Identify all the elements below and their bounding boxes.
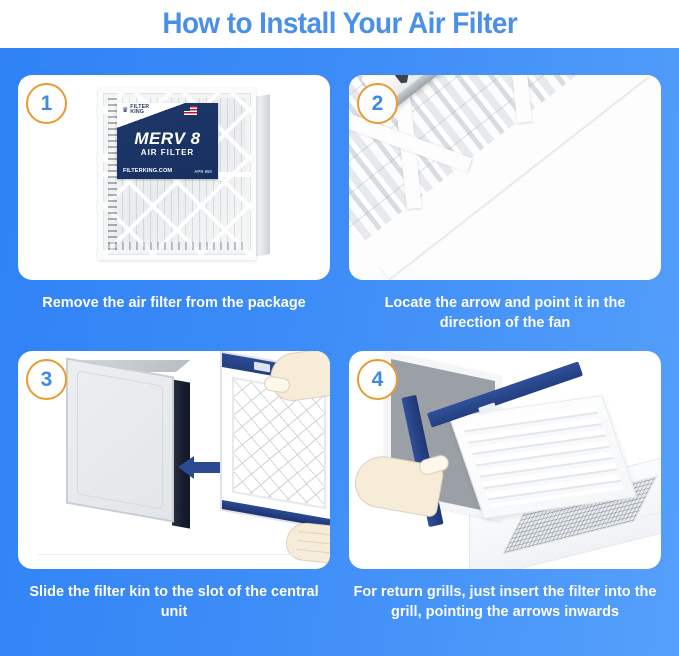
step-4-card: 4 — [349, 351, 661, 569]
step-2-caption: Locate the arrow and point it in the dir… — [349, 294, 661, 333]
central-unit-face — [66, 357, 174, 522]
step-4-badge: 4 — [357, 359, 398, 400]
merv-rating: MERV 8 — [117, 129, 218, 149]
usa-text: MADE IN USA — [199, 105, 214, 116]
brand-text: FILTER KING — [130, 105, 149, 116]
usa-flag-icon — [184, 106, 197, 115]
filter-arrow-tab-3 — [254, 362, 270, 373]
ground-line-3 — [38, 554, 328, 555]
step-3-badge: 3 — [26, 359, 67, 400]
step-1: ♛ FILTER KING MADE IN — [18, 75, 330, 314]
grill-door — [449, 395, 637, 519]
grill-louvers — [462, 406, 624, 508]
hand-lower — [284, 521, 330, 565]
step-2: AIR FLOW Air Filter AIRFLOW 2 Locate the… — [349, 75, 661, 333]
merv8-product-label: ♛ FILTER KING MADE IN — [117, 103, 218, 179]
step-2-badge: 2 — [357, 83, 398, 124]
step-1-caption: Remove the air filter from the package — [18, 294, 330, 314]
step-4: 4 For return grills, just insert the fil… — [349, 351, 661, 622]
label-subtitle: AIR FILTER — [117, 148, 218, 157]
page-title: How to Install Your Air Filter — [162, 9, 517, 39]
filter-pleat-edge-left — [108, 98, 117, 250]
brand-line-2: KING — [130, 109, 144, 115]
label-website: FILTERKING.COM — [123, 168, 172, 174]
step-3-caption: Slide the filter kin to the slot of the … — [18, 583, 330, 622]
filter-front-face: ♛ FILTER KING MADE IN — [98, 88, 256, 260]
step-3-card: 3 — [18, 351, 330, 569]
central-unit-panel-outline — [77, 370, 163, 509]
step-1-badge: 1 — [26, 83, 67, 124]
step-1-card: ♛ FILTER KING MADE IN — [18, 75, 330, 280]
crown-icon: ♛ — [122, 106, 128, 114]
step-2-card: AIR FLOW Air Filter AIRFLOW 2 — [349, 75, 661, 280]
infographic-page: How to Install Your Air Filter — [0, 0, 679, 656]
filter-pleat-edge-bottom — [108, 242, 246, 250]
header-band: How to Install Your Air Filter — [0, 0, 679, 48]
steps-grid: ♛ FILTER KING MADE IN — [0, 48, 679, 656]
air-filter-product-photo: ♛ FILTER KING MADE IN — [98, 88, 270, 266]
filter-king-logo: ♛ FILTER KING — [122, 105, 149, 116]
country-text: USA — [199, 108, 214, 116]
step-4-caption: For return grills, just insert the filte… — [349, 583, 661, 622]
step-3: 3 Slide the filter kin to the slot of th… — [18, 351, 330, 622]
insert-direction-arrow-icon — [178, 454, 224, 484]
made-in-usa-mark: MADE IN USA — [184, 105, 214, 116]
label-apr-rating: APR 650 — [194, 169, 212, 174]
